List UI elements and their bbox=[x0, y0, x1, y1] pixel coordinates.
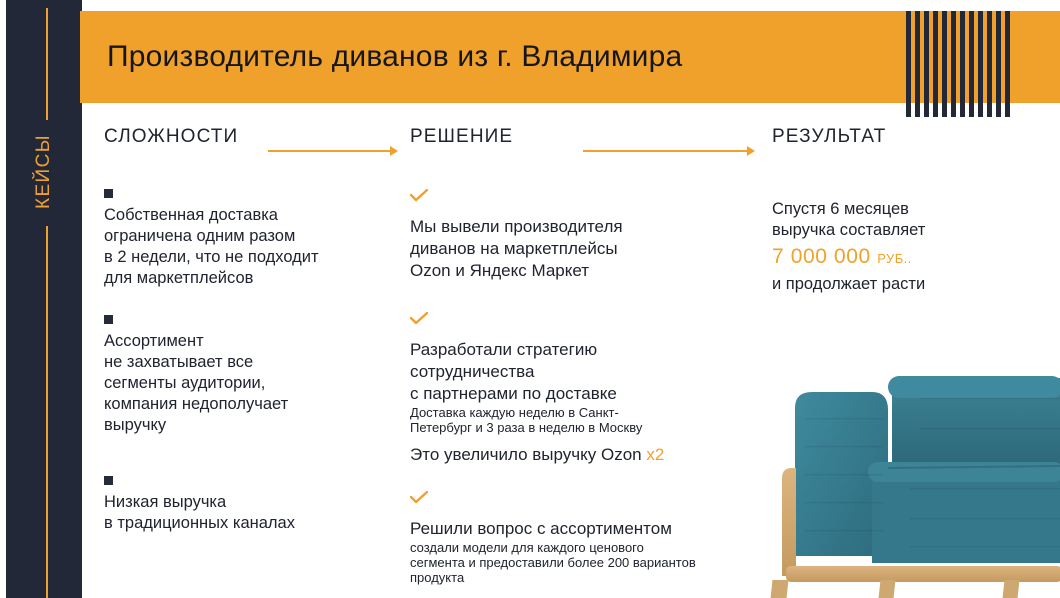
page-title: Производитель диванов из г. Владимира bbox=[107, 40, 682, 74]
square-bullet-icon bbox=[104, 476, 113, 485]
solution-item: Мы вывели производителя диванов на марке… bbox=[410, 189, 762, 282]
stripe-bar bbox=[996, 11, 1001, 117]
solution-main-text: Разработали стратегию сотрудничества с п… bbox=[410, 339, 762, 405]
stripe-bar bbox=[951, 11, 956, 117]
column-problems: СЛОЖНОСТИ Собственная доставка ограничен… bbox=[104, 125, 394, 534]
result-tail-text: и продолжает расти bbox=[772, 274, 1042, 295]
check-icon bbox=[410, 312, 428, 325]
solution-sub-text: Доставка каждую неделю в Санкт- Петербур… bbox=[410, 405, 762, 435]
column-heading-solution: РЕШЕНИЕ bbox=[410, 125, 762, 149]
column-result: РЕЗУЛЬТАТ Спустя 6 месяцев выручка соста… bbox=[772, 125, 1042, 295]
problem-text: Собственная доставка ограничена одним ра… bbox=[104, 205, 394, 289]
stripe-bar bbox=[987, 11, 992, 117]
problem-item: Собственная доставка ограничена одним ра… bbox=[104, 189, 394, 289]
problem-text: Низкая выручка в традиционных каналах bbox=[104, 492, 394, 534]
solution-note-text: Это увеличило выручку Ozon bbox=[410, 445, 646, 464]
column-heading-problems: СЛОЖНОСТИ bbox=[104, 125, 394, 149]
stripe-bar bbox=[924, 11, 929, 117]
square-bullet-icon bbox=[104, 189, 113, 198]
stripe-bar bbox=[1005, 11, 1010, 117]
problem-text: Ассортимент не захватывает все сегменты … bbox=[104, 331, 394, 436]
solution-sub-text: создали модели для каждого ценового сегм… bbox=[410, 540, 762, 585]
barcode-stripes-decoration bbox=[906, 11, 1018, 117]
result-intro-text: Спустя 6 месяцев выручка составляет bbox=[772, 199, 1042, 241]
solution-main-text: Решили вопрос с ассортиментом bbox=[410, 518, 762, 540]
problem-item: Низкая выручка в традиционных каналах bbox=[104, 476, 394, 534]
stripe-bar bbox=[906, 11, 911, 117]
result-amount-value: 7 000 000 bbox=[772, 245, 871, 268]
stripe-bar bbox=[978, 11, 983, 117]
stripe-bar bbox=[915, 11, 920, 117]
solution-item: Решили вопрос с ассортиментом создали мо… bbox=[410, 491, 762, 585]
solution-note: Это увеличило выручку Ozon x2 bbox=[410, 443, 762, 467]
solution-item: Разработали стратегию сотрудничества с п… bbox=[410, 312, 762, 467]
rail-line-bottom bbox=[46, 226, 48, 598]
column-heading-result: РЕЗУЛЬТАТ bbox=[772, 125, 1042, 149]
left-rail: КЕЙСЫ bbox=[6, 0, 82, 598]
stripe-bar bbox=[933, 11, 938, 117]
result-amount: 7 000 000 РУБ.. bbox=[772, 243, 1042, 273]
check-icon bbox=[410, 491, 428, 504]
stripe-bar bbox=[969, 11, 974, 117]
result-amount-unit: РУБ.. bbox=[877, 251, 911, 266]
rail-section-label: КЕЙСЫ bbox=[6, 120, 82, 224]
solution-note-accent: x2 bbox=[646, 445, 664, 464]
square-bullet-icon bbox=[104, 315, 113, 324]
check-icon bbox=[410, 189, 428, 202]
problem-item: Ассортимент не захватывает все сегменты … bbox=[104, 315, 394, 436]
stripe-bar bbox=[942, 11, 947, 117]
stripe-bar bbox=[960, 11, 965, 117]
rail-line-top bbox=[46, 8, 48, 120]
column-solution: РЕШЕНИЕ Мы вывели производителя диванов … bbox=[410, 125, 762, 585]
slide-canvas: КЕЙСЫ Производитель диванов из г. Владим… bbox=[0, 0, 1060, 598]
solution-main-text: Мы вывели производителя диванов на марке… bbox=[410, 216, 762, 282]
sofa-photo bbox=[760, 318, 1060, 598]
